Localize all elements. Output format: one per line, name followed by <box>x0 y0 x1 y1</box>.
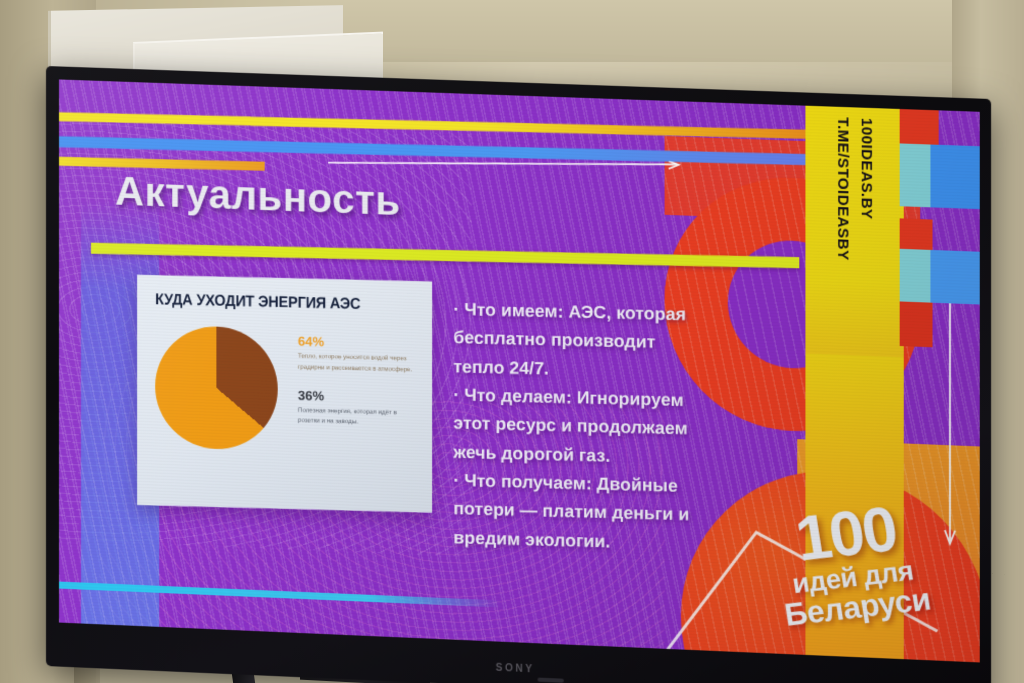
tv-screen: Актуальность КУДА УХОДИТ ЭНЕРГИЯ АЭС 64% <box>59 79 980 662</box>
presentation-slide: Актуальность КУДА УХОДИТ ЭНЕРГИЯ АЭС 64% <box>59 79 980 662</box>
color-block-blue <box>930 145 979 210</box>
tv-bezel: Актуальность КУДА УХОДИТ ЭНЕРГИЯ АЭС 64% <box>46 66 991 683</box>
legend-item-36: 36% Полезная энергия, которая идёт в роз… <box>298 389 418 430</box>
pie-chart <box>155 325 278 450</box>
tv-ir-sensor <box>538 678 564 683</box>
television: Актуальность КУДА УХОДИТ ЭНЕРГИЯ АЭС 64% <box>46 66 991 683</box>
corner-color-blocks <box>900 109 980 304</box>
branding-telegram-handle: T.ME/STOIDEASBY <box>834 117 851 355</box>
color-block-cyan <box>900 143 933 207</box>
chart-card: КУДА УХОДИТ ЭНЕРГИЯ АЭС 64% Тепло, котор… <box>137 275 432 513</box>
bullet-text-block: · Что имеем: АЭС, которая бесплатно прои… <box>453 295 746 559</box>
chart-body: 64% Тепло, которое уносится водой через … <box>155 325 418 454</box>
legend-percent-36: 36% <box>298 389 418 406</box>
color-block-red <box>900 218 933 250</box>
tv-brand-logo: SONY <box>496 663 535 676</box>
chart-title: КУДА УХОДИТ ЭНЕРГИЯ АЭС <box>155 291 399 315</box>
color-block-cyan <box>900 249 933 303</box>
chart-legend: 64% Тепло, которое уносится водой через … <box>298 329 418 454</box>
color-block-red <box>900 301 933 347</box>
wall-ceiling <box>300 0 1024 62</box>
pie-chart-wrapper <box>155 325 284 450</box>
color-block-red <box>900 109 939 145</box>
branding-vertical-text: T.ME/STOIDEASBY 100IDEAS.BY <box>810 116 900 357</box>
branding-website: 100IDEAS.BY <box>858 118 875 357</box>
color-block-blue <box>930 250 979 305</box>
legend-item-64: 64% Тепло, которое уносится водой через … <box>298 335 418 376</box>
photograph-of-tv-in-room: Актуальность КУДА УХОДИТ ЭНЕРГИЯ АЭС 64% <box>0 0 1024 683</box>
legend-percent-64: 64% <box>298 335 418 352</box>
legend-description-36: Полезная энергия, которая идёт в розетки… <box>298 406 418 429</box>
legend-description-64: Тепло, которое уносится водой через град… <box>298 352 418 375</box>
logo-100-ideas: 100 идей для Беларуси <box>725 491 980 662</box>
